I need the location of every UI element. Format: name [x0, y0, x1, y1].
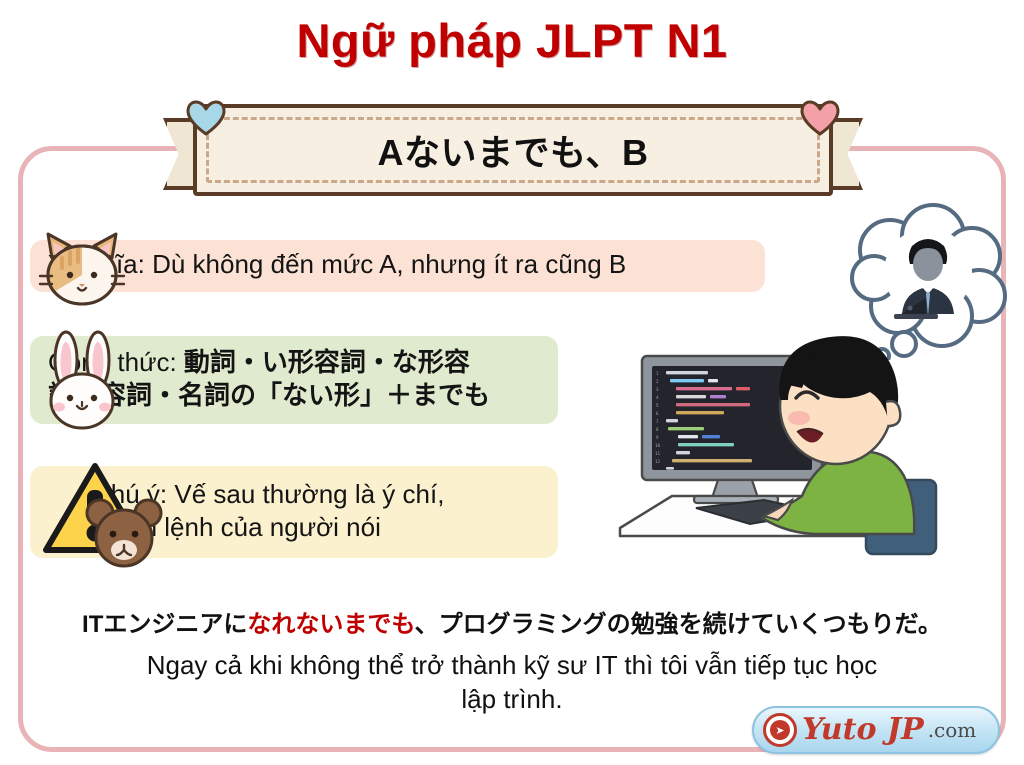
heart-icon-blue [186, 100, 226, 136]
grammar-point-text: Aないまでも、B [197, 108, 829, 192]
japanese-example: ITエンジニアになれないまでも、プログラミングの勉強を続けていくつもりだ。 [0, 604, 1024, 639]
infographic-root: Ngữ pháp JLPT N1 Aないまでも、B Ý nghĩa: Dù kh… [0, 0, 1024, 765]
grammar-banner: Aないまでも、B [163, 104, 863, 200]
bear-face-icon [82, 494, 166, 570]
cat-face-icon [34, 230, 130, 308]
jp-highlight: なれないまでも [247, 611, 414, 638]
heart-icon-pink [800, 100, 840, 136]
formula-value-line1: 動詞・い形容詞・な形容 [177, 347, 470, 377]
svg-text:11: 11 [655, 451, 661, 456]
logo-arrow-icon: ➤ [770, 720, 790, 740]
svg-text:10: 10 [655, 443, 661, 448]
jp-part2: 、プログラミングの勉強を続けていくつもりだ。 [415, 611, 942, 638]
logo-mark-icon: ➤ [763, 713, 797, 747]
person-coding-illustration: 123 456 789 101112 [614, 330, 944, 570]
jp-part1: ITエンジニアに [82, 611, 247, 638]
logo-name: Yuto JP [802, 715, 924, 745]
site-logo[interactable]: ➤ Yuto JP .com [752, 706, 1000, 754]
meaning-band: Ý nghĩa: Dù không đến mức A, nhưng ít ra… [30, 240, 765, 292]
meaning-text: Ý nghĩa: Dù không đến mức A, nhưng ít ra… [48, 248, 626, 281]
logo-suffix: .com [928, 720, 977, 740]
svg-text:12: 12 [655, 459, 661, 464]
rabbit-face-icon [36, 330, 128, 434]
meaning-value: Dù không đến mức A, nhưng ít ra cũng B [145, 249, 626, 279]
banner-body: Aないまでも、B [193, 104, 833, 196]
note-value-line1: Vế sau thường là ý chí, [167, 479, 444, 509]
meaning-row: Ý nghĩa: Dù không đến mức A, nhưng ít ra… [30, 240, 765, 292]
page-title: Ngữ pháp JLPT N1 [0, 14, 1024, 68]
